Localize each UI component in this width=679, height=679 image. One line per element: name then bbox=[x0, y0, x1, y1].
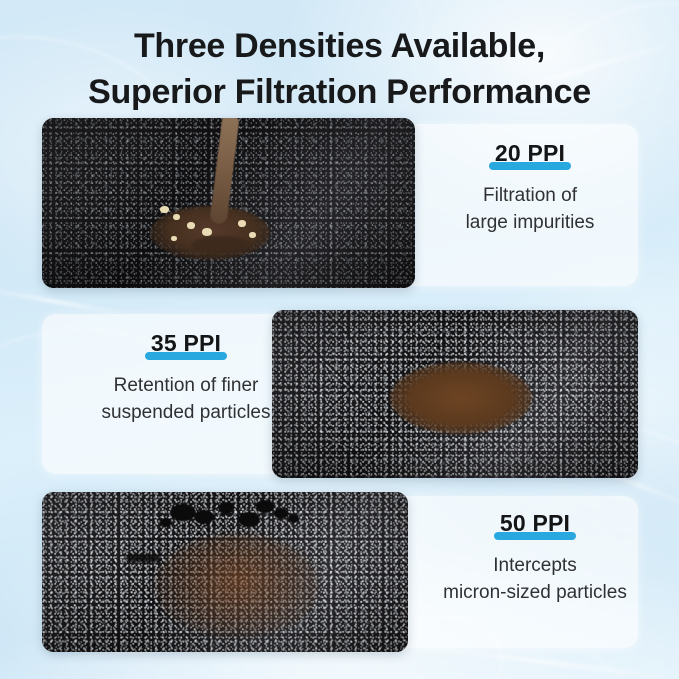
caption-line-1: Filtration of bbox=[430, 183, 630, 210]
debris-silt-patch bbox=[390, 362, 532, 434]
foam-photo-20ppi bbox=[42, 118, 415, 288]
debris-clump bbox=[256, 500, 274, 513]
debris-clump bbox=[288, 514, 299, 523]
debris-grain bbox=[171, 236, 177, 241]
ppi-badge-50: 50 PPI bbox=[494, 510, 576, 544]
debris-grain bbox=[187, 222, 195, 229]
caption-line-1: Intercepts bbox=[430, 553, 640, 580]
product-feature-poster: Three Densities Available, Superior Filt… bbox=[0, 0, 679, 679]
debris-streak bbox=[126, 554, 160, 562]
foam-photo-35ppi bbox=[272, 310, 638, 478]
debris-grain bbox=[202, 228, 212, 236]
caption-line-2: micron-sized particles bbox=[430, 580, 640, 607]
debris-clump bbox=[218, 502, 234, 514]
debris-grain bbox=[249, 232, 256, 238]
caption-50ppi: 50 PPI Intercepts micron-sized particles bbox=[430, 510, 640, 607]
water-streak-icon bbox=[401, 643, 679, 679]
debris-clump bbox=[160, 518, 172, 527]
debris-clump bbox=[170, 504, 196, 521]
caption-20ppi: 20 PPI Filtration of large impurities bbox=[430, 140, 630, 237]
water-streak-icon bbox=[0, 287, 129, 316]
ppi-label: 35 PPI bbox=[151, 330, 221, 356]
debris-grain bbox=[173, 214, 180, 220]
debris-rust-stain bbox=[154, 534, 320, 638]
debris-grain bbox=[160, 206, 169, 213]
ppi-badge-35: 35 PPI bbox=[145, 330, 227, 364]
debris-grain bbox=[238, 220, 246, 227]
debris-smear bbox=[192, 236, 250, 254]
foam-photo-50ppi bbox=[42, 492, 408, 652]
page-title-line-1: Three Densities Available, bbox=[24, 24, 655, 70]
ppi-label: 50 PPI bbox=[500, 510, 570, 536]
caption-description: Retention of finer suspended particles bbox=[52, 373, 320, 427]
ppi-badge-20: 20 PPI bbox=[489, 140, 571, 174]
caption-description: Filtration of large impurities bbox=[430, 183, 630, 237]
caption-35ppi: 35 PPI Retention of finer suspended part… bbox=[52, 330, 320, 427]
ppi-label: 20 PPI bbox=[495, 140, 565, 166]
debris-clump bbox=[194, 510, 214, 524]
debris-clump bbox=[238, 512, 260, 527]
caption-description: Intercepts micron-sized particles bbox=[430, 553, 640, 607]
caption-line-2: large impurities bbox=[430, 210, 630, 237]
page-title: Three Densities Available, Superior Filt… bbox=[0, 24, 679, 115]
caption-line-1: Retention of finer bbox=[52, 373, 320, 400]
caption-line-2: suspended particles bbox=[52, 400, 320, 427]
page-title-line-2: Superior Filtration Performance bbox=[24, 70, 655, 116]
debris-clump bbox=[274, 508, 288, 519]
